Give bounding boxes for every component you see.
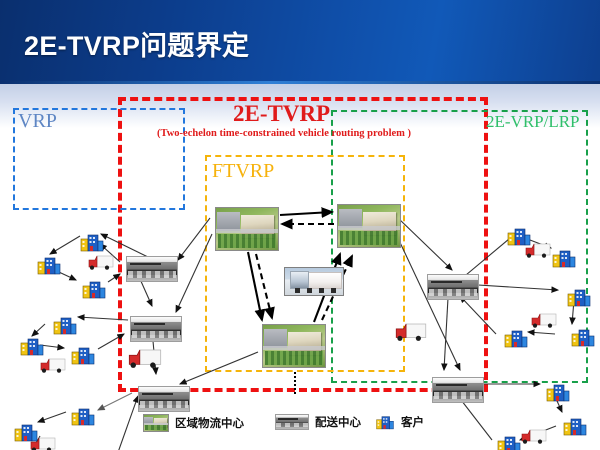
legend-item-distribution-center: 配送中心	[275, 414, 361, 430]
legend: 区域物流中心 配送中心 客户	[0, 406, 600, 450]
customer-icon	[570, 327, 596, 347]
regional-logistics-center-icon	[262, 324, 326, 368]
regional-logistics-center-icon	[337, 204, 401, 248]
legend-item-customer: 客户	[375, 414, 424, 430]
regional-logistics-center-icon	[143, 414, 169, 432]
legend-label: 客户	[401, 414, 424, 430]
customer-icon	[81, 279, 107, 299]
legend-label: 配送中心	[315, 414, 361, 430]
delivery-truck-icon	[128, 347, 162, 370]
legend-item-regional-logistics-center: 区域物流中心	[143, 414, 244, 432]
distribution-center-icon	[130, 316, 182, 342]
delivery-truck-icon	[40, 357, 66, 374]
delivery-truck-icon	[531, 312, 557, 329]
distribution-center-icon	[427, 274, 479, 300]
semi-truck-icon	[284, 267, 344, 296]
slide-root: 2E-TVRP问题界定 VRP 2E-VRP/LRP FTVRP 2E-TVRP…	[0, 0, 600, 450]
customer-icon	[566, 287, 592, 307]
regional-logistics-center-icon	[215, 207, 279, 251]
customer-icon	[503, 328, 529, 348]
distribution-center-icon	[275, 414, 309, 430]
delivery-truck-icon	[395, 321, 427, 343]
customer-icon	[375, 414, 395, 430]
distribution-center-icon	[126, 256, 178, 282]
delivery-truck-icon	[525, 242, 551, 259]
slide-header: 2E-TVRP问题界定	[0, 0, 600, 84]
page-title: 2E-TVRP问题界定	[24, 24, 249, 63]
customer-icon	[19, 336, 45, 356]
customer-icon	[52, 315, 78, 335]
customer-icon	[551, 248, 577, 268]
customer-icon	[545, 382, 571, 402]
customer-icon	[36, 255, 62, 275]
delivery-truck-icon	[88, 254, 114, 271]
diagram-canvas: VRP 2E-VRP/LRP FTVRP 2E-TVRP (Two-echelo…	[0, 84, 600, 450]
legend-label: 区域物流中心	[175, 415, 244, 431]
distribution-center-icon	[432, 377, 484, 403]
customer-icon	[70, 345, 96, 365]
customer-icon	[79, 232, 105, 252]
